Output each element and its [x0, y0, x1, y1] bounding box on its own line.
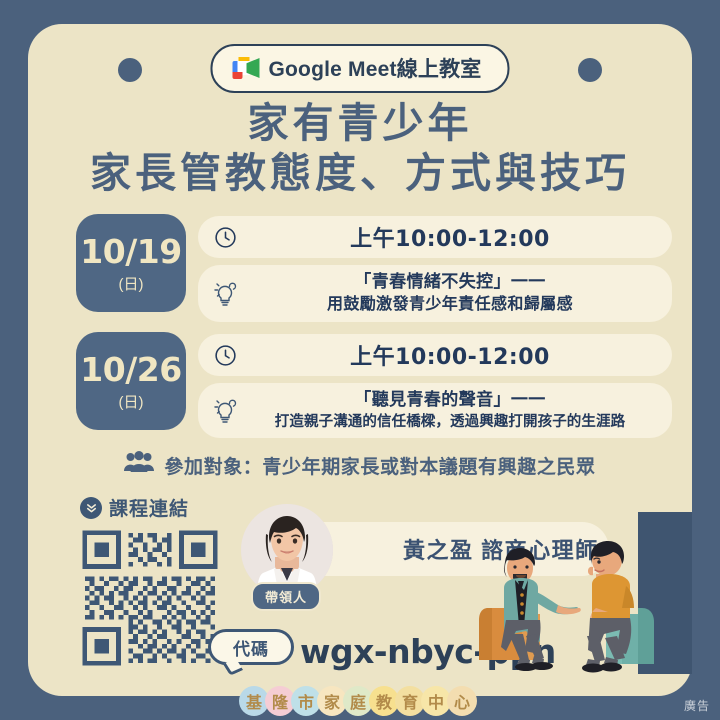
- poster-card: Google Meet線上教室 家有青少年 家長管教態度、方式與技巧 10/19…: [28, 24, 692, 696]
- platform-label: Google Meet線上教室: [268, 53, 481, 83]
- session-topic-1-line1: 「青春情緒不失控」一一: [242, 270, 658, 294]
- session-time-row-1: 上午10:00-12:00: [198, 216, 672, 258]
- lightbulb-icon: [208, 278, 242, 308]
- course-link-label: 課程連結: [109, 494, 189, 521]
- org-logo-char: 心: [447, 686, 477, 716]
- session-block-2: 10/26 (日) 上午10:00-12:00: [76, 332, 672, 438]
- title-line-1: 家有青少年: [28, 98, 692, 148]
- punch-hole-right: [578, 58, 602, 82]
- org-logo: 基隆市家庭教育中心: [243, 686, 477, 716]
- session-time-row-2: 上午10:00-12:00: [198, 334, 672, 376]
- chevron-double-down-icon: [80, 497, 102, 519]
- session-time-2: 上午10:00-12:00: [242, 339, 658, 371]
- session-topic-2-line2: 打造親子溝通的信任橋樑，透過興趣打開孩子的生涯路: [242, 412, 658, 433]
- ad-label: 廣告: [684, 697, 710, 714]
- session-topic-row-1: 「青春情緒不失控」一一 用鼓勵激發青少年責任感和歸屬感: [198, 265, 672, 322]
- audience-line: 參加對象：青少年期家長或對本議題有興趣之民眾: [28, 451, 692, 479]
- session-weekday-2: (日): [119, 391, 144, 412]
- google-meet-logo: [232, 57, 259, 79]
- session-time-1: 上午10:00-12:00: [242, 221, 658, 253]
- page-title: 家有青少年 家長管教態度、方式與技巧: [28, 98, 692, 198]
- session-date-badge-1: 10/19 (日): [76, 214, 186, 312]
- session-date-badge-2: 10/26 (日): [76, 332, 186, 430]
- two-people-talking-illustration: [460, 512, 692, 674]
- code-bubble-label: 代碼: [233, 635, 269, 660]
- session-topic-2-line1: 「聽見青春的聲音」一一: [242, 388, 658, 412]
- session-topic-row-2: 「聽見青春的聲音」一一 打造親子溝通的信任橋樑，透過興趣打開孩子的生涯路: [198, 383, 672, 438]
- session-block-1: 10/19 (日) 上午10:00-12:00: [76, 214, 672, 322]
- punch-hole-left: [118, 58, 142, 82]
- session-topic-1-line2: 用鼓勵激發青少年責任感和歸屬感: [242, 294, 658, 317]
- session-weekday-1: (日): [119, 273, 144, 294]
- clock-icon: [208, 343, 242, 368]
- lightbulb-icon: [208, 395, 242, 425]
- people-group-icon: [124, 451, 154, 479]
- course-link-header: 課程連結: [80, 494, 240, 521]
- session-date-1: 10/19: [80, 232, 181, 271]
- title-line-2: 家長管教態度、方式與技巧: [28, 148, 692, 198]
- speaker-role-tag: 帶領人: [251, 582, 321, 611]
- audience-text: 參加對象：青少年期家長或對本議題有興趣之民眾: [164, 452, 595, 479]
- course-link-qr-code[interactable]: [80, 528, 220, 668]
- clock-icon: [208, 225, 242, 250]
- code-bubble: 代碼: [208, 629, 294, 673]
- platform-badge: Google Meet線上教室: [210, 44, 509, 93]
- session-topic-1: 「青春情緒不失控」一一 用鼓勵激發青少年責任感和歸屬感: [242, 270, 658, 317]
- session-date-2: 10/26: [80, 350, 181, 389]
- session-topic-2: 「聽見青春的聲音」一一 打造親子溝通的信任橋樑，透過興趣打開孩子的生涯路: [242, 388, 658, 433]
